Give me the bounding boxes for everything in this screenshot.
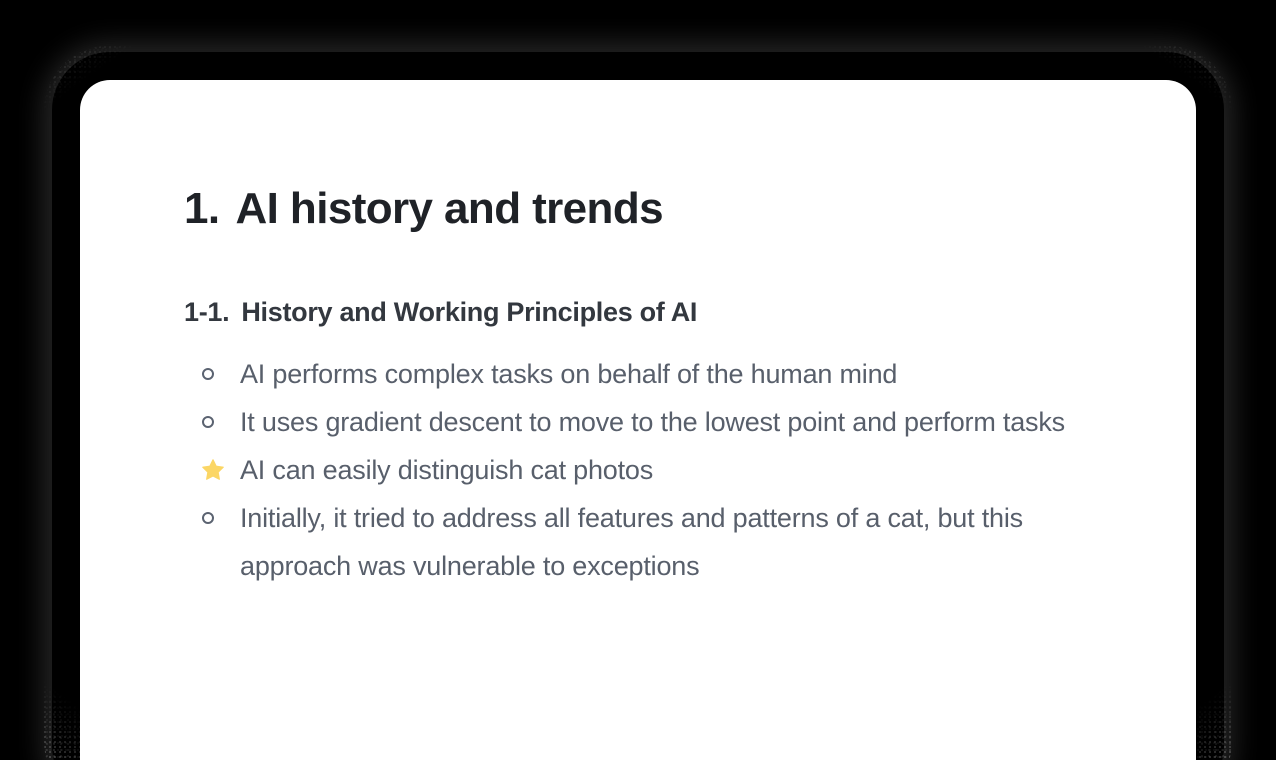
- list-item: Initially, it tried to address all featu…: [184, 494, 1156, 590]
- bullet-marker: [200, 350, 240, 398]
- circle-outline-icon: [202, 416, 214, 428]
- bullet-marker: [200, 494, 240, 542]
- section-title: AI history and trends: [236, 185, 663, 233]
- bullet-list: AI performs complex tasks on behalf of t…: [184, 350, 1156, 590]
- star-icon: [200, 457, 226, 483]
- bullet-marker: [200, 446, 240, 494]
- slide-content: 1. AI history and trends 1-1. History an…: [184, 185, 1156, 590]
- bullet-marker: [200, 398, 240, 446]
- list-item: AI performs complex tasks on behalf of t…: [184, 350, 1156, 398]
- subsection-number: 1-1.: [184, 297, 229, 328]
- list-item-text: AI can easily distinguish cat photos: [240, 446, 1110, 494]
- list-item-text: Initially, it tried to address all featu…: [240, 494, 1110, 590]
- list-item-text: AI performs complex tasks on behalf of t…: [240, 350, 1110, 398]
- list-item-highlighted: AI can easily distinguish cat photos: [184, 446, 1156, 494]
- subsection-title-text: History and Working Principles of AI: [241, 297, 697, 328]
- page-title: 1. AI history and trends: [184, 185, 1156, 233]
- section-number: 1.: [184, 185, 220, 233]
- list-item-text: It uses gradient descent to move to the …: [240, 398, 1110, 446]
- circle-outline-icon: [202, 512, 214, 524]
- circle-outline-icon: [202, 368, 214, 380]
- subsection-title: 1-1. History and Working Principles of A…: [184, 297, 1156, 328]
- list-item: It uses gradient descent to move to the …: [184, 398, 1156, 446]
- slide-card: 1. AI history and trends 1-1. History an…: [80, 80, 1196, 760]
